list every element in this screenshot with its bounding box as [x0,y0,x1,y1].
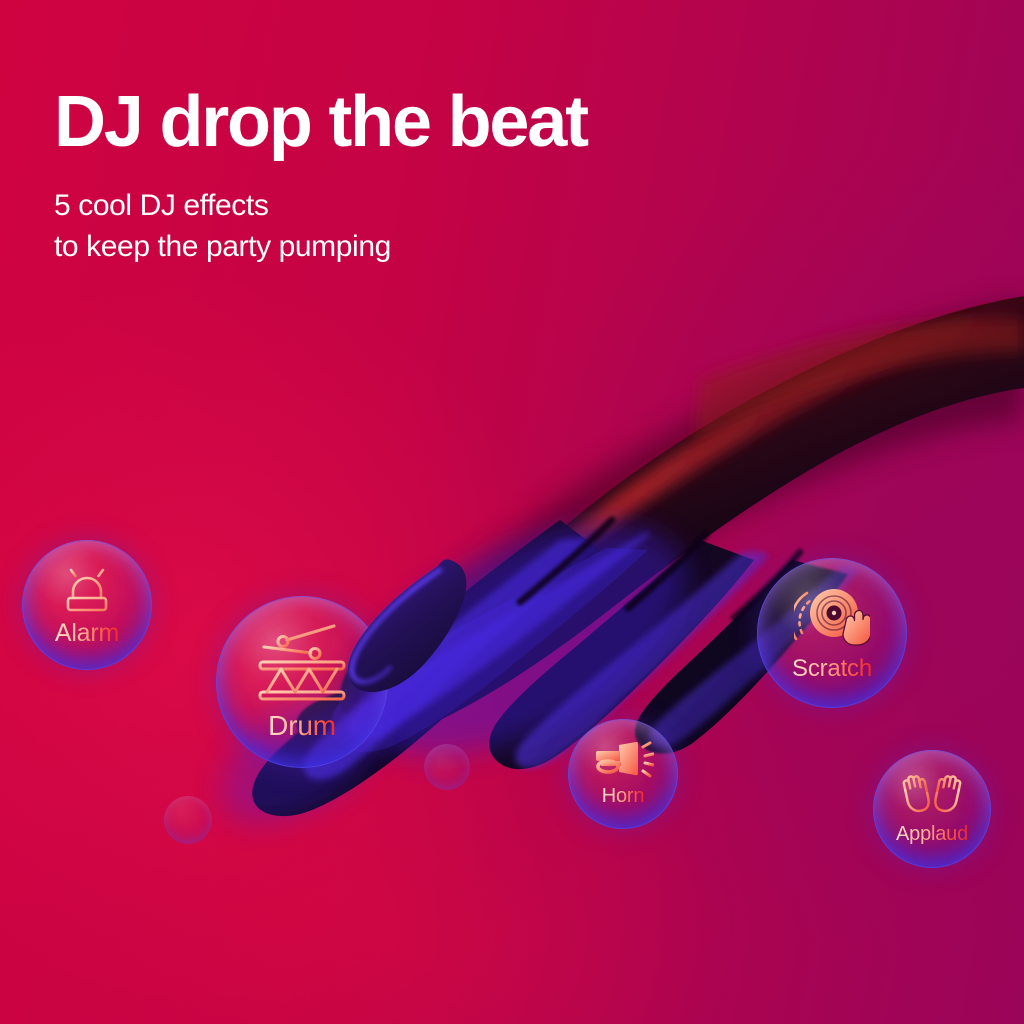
decorative-bubble [164,796,212,844]
effect-label-alarm: Alarm [55,619,119,648]
headline-block: DJ drop the beat 5 cool DJ effects to ke… [54,86,814,267]
subtitle: 5 cool DJ effects to keep the party pump… [54,186,814,267]
vinyl-scratch-icon [794,583,870,651]
subtitle-line-1: 5 cool DJ effects [54,186,814,227]
effect-button-horn[interactable]: Horn [568,719,678,829]
subtitle-line-2: to keep the party pumping [54,227,814,268]
siren-icon [56,562,118,614]
air-horn-icon [592,741,654,781]
effect-label-horn: Horn [602,785,645,808]
effect-button-drum[interactable]: Drum [216,596,388,768]
effect-button-alarm[interactable]: Alarm [22,540,152,670]
effect-label-applaud: Applaud [896,823,968,846]
effect-label-scratch: Scratch [792,655,872,683]
effect-button-scratch[interactable]: Scratch [757,558,907,708]
effect-label-drum: Drum [268,710,336,742]
page-title: DJ drop the beat [54,86,814,158]
effect-button-applaud[interactable]: Applaud [873,750,991,868]
decorative-bubble [424,744,470,790]
snare-drum-icon [250,622,354,704]
promo-banner: DJ drop the beat 5 cool DJ effects to ke… [0,0,1024,1024]
clapping-hands-icon [900,773,964,819]
